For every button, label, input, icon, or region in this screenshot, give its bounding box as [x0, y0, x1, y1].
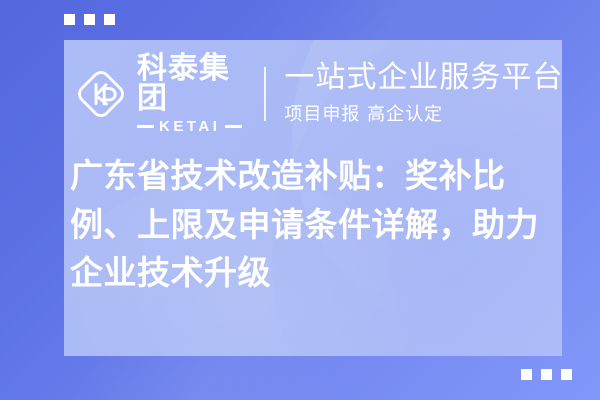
- square-dot-icon: [64, 14, 75, 25]
- header-divider: [264, 67, 266, 121]
- brand-name-en-row: KETAI: [137, 119, 242, 134]
- square-dot-icon: [521, 369, 532, 380]
- square-dot-icon: [104, 14, 115, 25]
- brand-name-en: KETAI: [159, 119, 220, 134]
- square-dot-icon: [84, 14, 95, 25]
- promo-banner: 科泰集团 KETAI 一站式企业服务平台 项目申报 高企认定 广东省技术改造补贴…: [0, 0, 600, 400]
- square-dot-icon: [561, 369, 572, 380]
- brand-name-cn: 科泰集团: [137, 54, 242, 114]
- slogan-primary: 一站式企业服务平台: [284, 62, 562, 94]
- page-title: 广东省技术改造补贴：奖补比例、上限及申请条件详解，助力企业技术升级: [70, 152, 562, 298]
- wordmark-rule-left: [137, 125, 154, 128]
- ketai-diamond-kd-logo-icon: [74, 67, 128, 121]
- content-card: 科泰集团 KETAI 一站式企业服务平台 项目申报 高企认定 广东省技术改造补贴…: [64, 40, 562, 356]
- wordmark-rule-right: [225, 125, 242, 128]
- decorative-dots-top: [64, 14, 115, 25]
- decorative-dots-bottom: [521, 369, 572, 380]
- slogan-block: 一站式企业服务平台 项目申报 高企认定: [284, 62, 562, 126]
- brand-header: 科泰集团 KETAI 一站式企业服务平台 项目申报 高企认定: [70, 48, 562, 140]
- brand-logo[interactable]: 科泰集团 KETAI: [70, 54, 242, 134]
- square-dot-icon: [541, 369, 552, 380]
- brand-wordmark: 科泰集团 KETAI: [137, 54, 242, 134]
- slogan-secondary: 项目申报 高企认定: [284, 100, 562, 126]
